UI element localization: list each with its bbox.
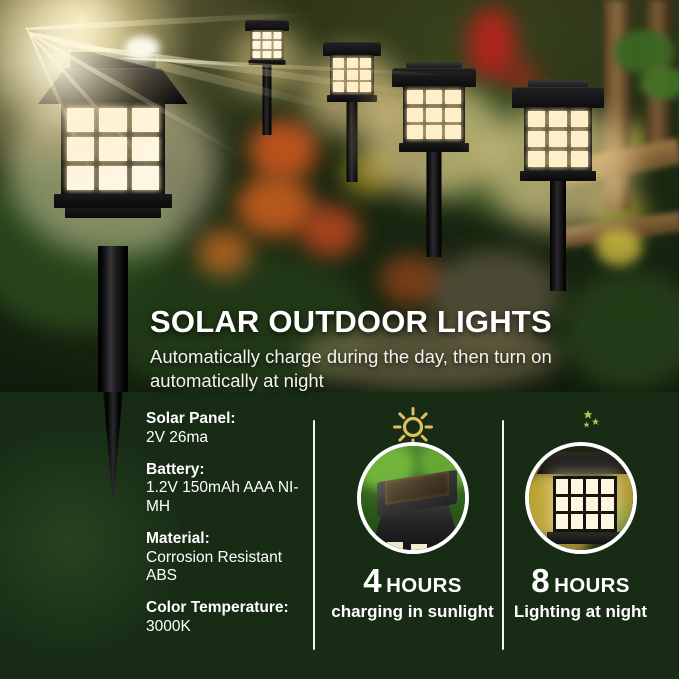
lantern-pane bbox=[549, 111, 566, 127]
feature-unit: HOURS bbox=[386, 574, 462, 597]
lantern-pane bbox=[528, 151, 545, 167]
lantern-roof bbox=[392, 68, 476, 87]
lantern-pane bbox=[347, 58, 358, 68]
flower-blob bbox=[596, 228, 642, 266]
lantern-pane bbox=[407, 108, 423, 122]
lantern-pane bbox=[273, 51, 281, 58]
feature-caption: Lighting at night bbox=[498, 602, 663, 621]
feature-hours-line: 4HOURS bbox=[330, 564, 495, 597]
feature-number: 8 bbox=[531, 562, 549, 599]
solar-panel-top-photo bbox=[357, 442, 469, 554]
headline-title: SOLAR OUTDOOR LIGHTS bbox=[150, 306, 650, 339]
feature-charging: 4HOURS charging in sunlight bbox=[330, 402, 495, 621]
lit-lantern-photo bbox=[525, 442, 637, 554]
feature-lighting: 8HOURS Lighting at night bbox=[498, 402, 663, 621]
lantern-pane bbox=[571, 111, 588, 127]
divider-left bbox=[313, 420, 315, 650]
leaf-blob bbox=[640, 66, 679, 100]
spec-item-material: Material: Corrosion Resistant ABS bbox=[146, 530, 316, 586]
lantern-pane bbox=[571, 151, 588, 167]
fence-post bbox=[604, 0, 630, 210]
lantern-post bbox=[263, 65, 272, 135]
lantern-pane bbox=[549, 151, 566, 167]
lantern-pane bbox=[571, 131, 588, 147]
lantern-roof bbox=[512, 87, 604, 108]
hero-lantern-base bbox=[54, 194, 172, 208]
lantern-pane bbox=[528, 111, 545, 127]
lantern-pane bbox=[273, 32, 281, 39]
lantern-pane bbox=[253, 32, 261, 39]
feature-unit: HOURS bbox=[554, 574, 630, 597]
spec-label: Color Temperature: bbox=[146, 599, 316, 618]
spec-list: Solar Panel: 2V 26ma Battery: 1.2V 150mA… bbox=[146, 410, 316, 650]
spec-item-solar-panel: Solar Panel: 2V 26ma bbox=[146, 410, 316, 448]
lantern-body bbox=[403, 86, 465, 143]
lantern-pane bbox=[132, 166, 159, 190]
spec-value: 3000K bbox=[146, 618, 316, 637]
spec-label: Solar Panel: bbox=[146, 410, 316, 429]
headline-block: SOLAR OUTDOOR LIGHTS Automatically charg… bbox=[150, 306, 650, 393]
lantern-pane bbox=[253, 51, 261, 58]
lantern-pane bbox=[549, 131, 566, 147]
lantern-post bbox=[550, 181, 566, 291]
feature-caption: charging in sunlight bbox=[330, 602, 495, 621]
lantern-pane bbox=[426, 125, 442, 139]
spec-label: Material: bbox=[146, 530, 316, 549]
lantern-base bbox=[520, 171, 596, 181]
lantern-pane bbox=[360, 82, 371, 92]
lantern-roof bbox=[323, 42, 381, 56]
specs-panel: Solar Panel: 2V 26ma Battery: 1.2V 150mA… bbox=[0, 392, 679, 679]
lantern-pane bbox=[407, 125, 423, 139]
lantern-pane bbox=[347, 70, 358, 80]
spec-value: 1.2V 150mAh AAA NI-MH bbox=[146, 479, 316, 517]
lantern-pane bbox=[263, 32, 271, 39]
lantern-pane bbox=[333, 82, 344, 92]
lantern-pane bbox=[426, 90, 442, 104]
product-marketing-image: SOLAR OUTDOOR LIGHTS Automatically charg… bbox=[0, 0, 679, 679]
headline-subtitle: Automatically charge during the day, the… bbox=[150, 345, 650, 394]
feature-number: 4 bbox=[363, 562, 381, 599]
lantern-pane bbox=[333, 70, 344, 80]
lantern-pane bbox=[333, 58, 344, 68]
lantern-body bbox=[251, 30, 284, 60]
flower-blob bbox=[300, 205, 360, 257]
spec-value: 2V 26ma bbox=[146, 429, 316, 448]
lantern-pane bbox=[445, 108, 461, 122]
lantern-base bbox=[327, 95, 377, 102]
spec-item-color-temperature: Color Temperature: 3000K bbox=[146, 599, 316, 637]
hero-lantern-stake bbox=[98, 246, 128, 396]
lantern-pane bbox=[253, 41, 261, 48]
lantern-base bbox=[399, 143, 469, 152]
spec-value: Corrosion Resistant ABS bbox=[146, 549, 316, 587]
lantern-body bbox=[524, 107, 592, 171]
lantern-pane bbox=[273, 41, 281, 48]
spec-label: Battery: bbox=[146, 461, 316, 480]
lantern-pane bbox=[360, 58, 371, 68]
lantern-post bbox=[347, 102, 358, 182]
lantern-pane bbox=[263, 51, 271, 58]
flower-blob bbox=[248, 120, 318, 180]
feature-hours-line: 8HOURS bbox=[498, 564, 663, 597]
lantern-pane bbox=[407, 90, 423, 104]
hero-lantern-collar bbox=[65, 208, 161, 218]
lantern-pane bbox=[445, 125, 461, 139]
lantern-pane bbox=[426, 108, 442, 122]
lantern-pane bbox=[445, 90, 461, 104]
lantern-pane bbox=[360, 70, 371, 80]
lantern-post bbox=[427, 152, 442, 257]
flower-blob bbox=[196, 228, 251, 276]
lantern-pane bbox=[528, 131, 545, 147]
lantern-pane bbox=[347, 82, 358, 92]
spec-item-battery: Battery: 1.2V 150mAh AAA NI-MH bbox=[146, 461, 316, 517]
lantern-pane bbox=[263, 41, 271, 48]
lantern-body bbox=[330, 55, 374, 95]
